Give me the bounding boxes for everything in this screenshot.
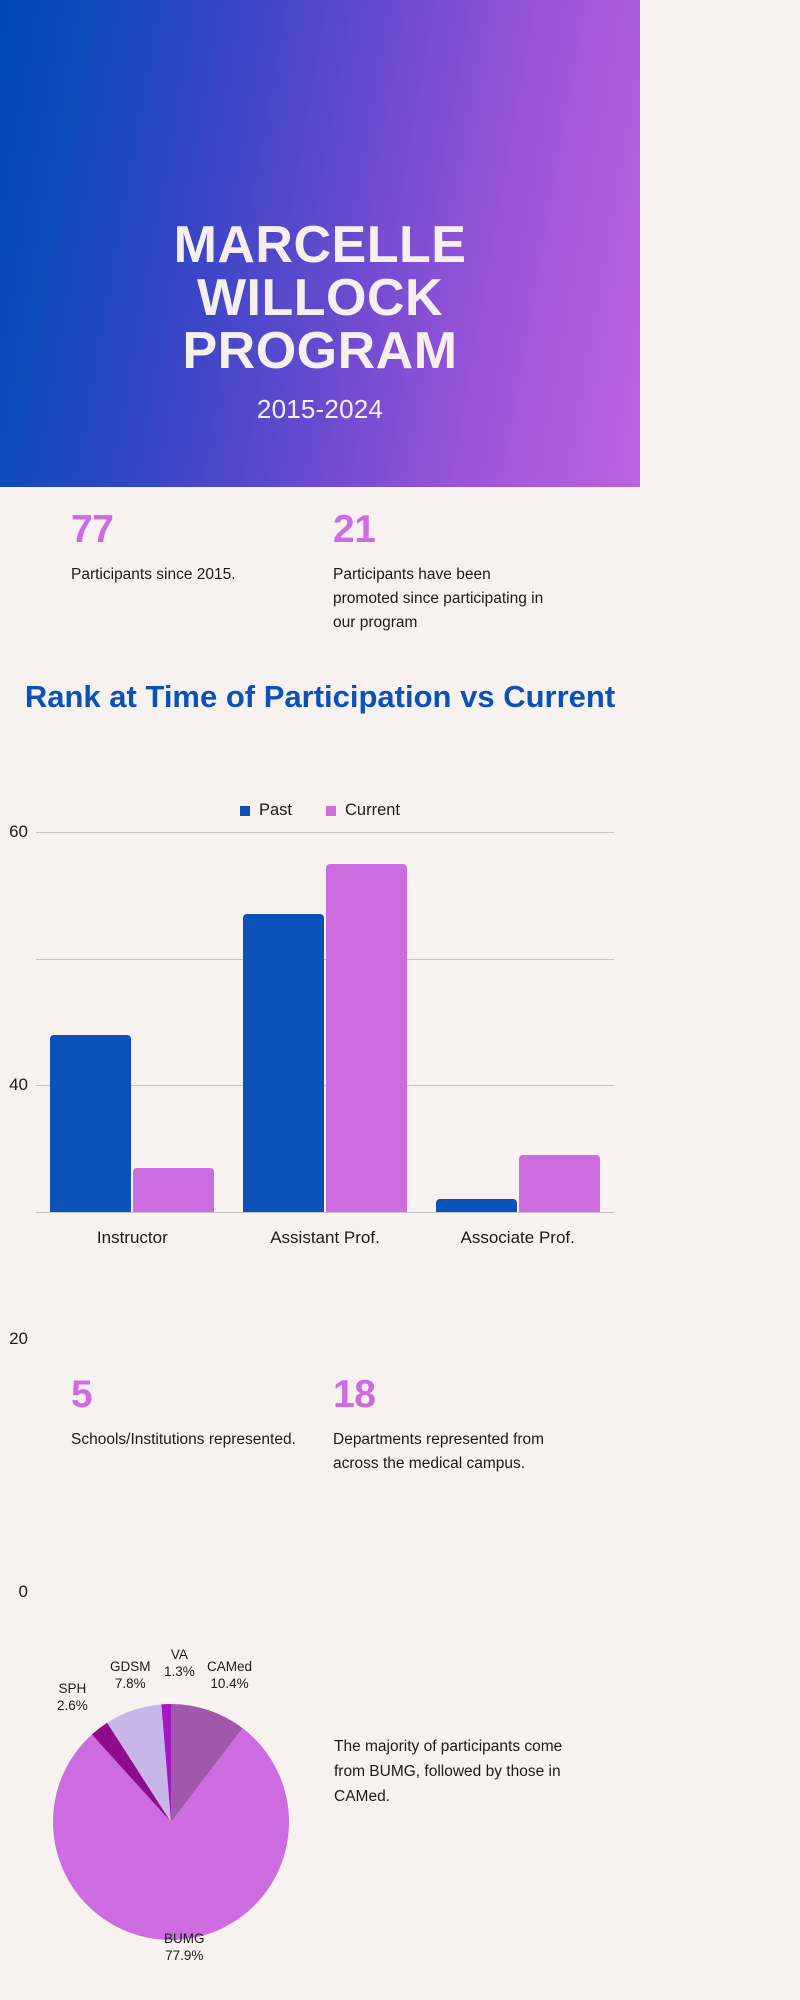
pie-label-camed: CAMed10.4% xyxy=(207,1658,252,1693)
legend-item-current: Current xyxy=(326,801,400,820)
stat-card-schools: 5 Schools/Institutions represented. xyxy=(71,1375,301,1452)
stat-text-schools: Schools/Institutions represented. xyxy=(71,1428,301,1452)
stat-text-departments: Departments represented from across the … xyxy=(333,1428,563,1476)
page-subtitle-years: 2015-2024 xyxy=(257,394,383,425)
pie-label-value: 77.9% xyxy=(164,1947,205,1964)
stat-card-promoted: 21 Participants have been promoted since… xyxy=(333,510,548,635)
bar-chart-plot-area: 0204060 xyxy=(36,832,614,1212)
pie-label-name: VA xyxy=(164,1646,195,1663)
pie-chart: BUMG77.9%CAMed10.4%VA1.3%GDSM7.8%SPH2.6% xyxy=(52,1600,322,1950)
gridline: 40 xyxy=(36,959,614,960)
title-line-1: MARCELLE xyxy=(174,219,467,272)
pie-label-value: 2.6% xyxy=(57,1697,88,1714)
y-axis-tick-label: 60 xyxy=(9,822,28,842)
gridline: 60 xyxy=(36,832,614,833)
header-banner: MARCELLE WILLOCK PROGRAM 2015-2024 xyxy=(0,0,640,487)
pie-label-va: VA1.3% xyxy=(164,1646,195,1681)
x-axis-tick-label: Assistant Prof. xyxy=(229,1228,422,1248)
bar-chart-legend: Past Current xyxy=(0,801,640,820)
stat-number-departments: 18 xyxy=(333,1375,563,1416)
stats-row-bottom: 5 Schools/Institutions represented. 18 D… xyxy=(0,1363,640,1543)
legend-item-past: Past xyxy=(240,801,292,820)
legend-label-past: Past xyxy=(259,801,292,820)
pie-label-name: SPH xyxy=(57,1680,88,1697)
stat-text-promoted: Participants have been promoted since pa… xyxy=(333,563,548,635)
stats-row-top: 77 Participants since 2015. 21 Participa… xyxy=(0,487,640,682)
pie-label-value: 1.3% xyxy=(164,1663,195,1680)
bar-chart-title: Rank at Time of Participation vs Current xyxy=(10,677,630,716)
bar-current-0 xyxy=(133,1168,214,1212)
legend-swatch-current-icon xyxy=(326,806,336,816)
legend-label-current: Current xyxy=(345,801,400,820)
bar-current-2 xyxy=(519,1155,600,1212)
x-axis-tick-label: Associate Prof. xyxy=(421,1228,614,1248)
title-line-2: WILLOCK xyxy=(174,272,467,325)
pie-label-bumg: BUMG77.9% xyxy=(164,1930,205,1965)
x-axis-tick-label: Instructor xyxy=(36,1228,229,1248)
stat-number-schools: 5 xyxy=(71,1375,301,1416)
pie-label-gdsm: GDSM7.8% xyxy=(110,1658,151,1693)
pie-chart-note: The majority of participants come from B… xyxy=(334,1735,564,1809)
bar-past-2 xyxy=(436,1199,517,1212)
page-title: MARCELLE WILLOCK PROGRAM xyxy=(174,219,467,378)
infographic-canvas: MARCELLE WILLOCK PROGRAM 2015-2024 77 Pa… xyxy=(0,0,640,2000)
stat-number-participants: 77 xyxy=(71,510,301,551)
legend-swatch-past-icon xyxy=(240,806,250,816)
pie-label-value: 7.8% xyxy=(110,1675,151,1692)
bar-chart-block: Rank at Time of Participation vs Current… xyxy=(0,682,640,1362)
gridline: 0 xyxy=(36,1212,614,1213)
bar-past-0 xyxy=(50,1035,131,1212)
pie-label-sph: SPH2.6% xyxy=(57,1680,88,1715)
bar-chart-plot: 0204060 xyxy=(36,832,614,995)
stat-number-promoted: 21 xyxy=(333,510,548,551)
stat-text-participants: Participants since 2015. xyxy=(71,563,301,587)
stat-card-participants: 77 Participants since 2015. xyxy=(71,510,301,587)
pie-chart-block: BUMG77.9%CAMed10.4%VA1.3%GDSM7.8%SPH2.6%… xyxy=(0,1545,640,2000)
infographic-page: MARCELLE WILLOCK PROGRAM 2015-2024 77 Pa… xyxy=(0,0,800,2000)
pie-label-name: GDSM xyxy=(110,1658,151,1675)
title-line-3: PROGRAM xyxy=(174,325,467,378)
pie-label-name: BUMG xyxy=(164,1930,205,1947)
bar-chart-x-axis-labels: InstructorAssistant Prof.Associate Prof. xyxy=(36,1228,614,1248)
pie-label-name: CAMed xyxy=(207,1658,252,1675)
bar-past-1 xyxy=(243,914,324,1212)
pie-label-value: 10.4% xyxy=(207,1675,252,1692)
bar-chart-title-line-1: Rank at Time of Participation vs xyxy=(25,679,495,714)
stat-card-departments: 18 Departments represented from across t… xyxy=(333,1375,563,1476)
y-axis-tick-label: 20 xyxy=(9,1329,28,1349)
y-axis-tick-label: 40 xyxy=(9,1075,28,1095)
bar-current-1 xyxy=(326,864,407,1212)
bar-chart-title-line-2: Current xyxy=(503,679,615,714)
